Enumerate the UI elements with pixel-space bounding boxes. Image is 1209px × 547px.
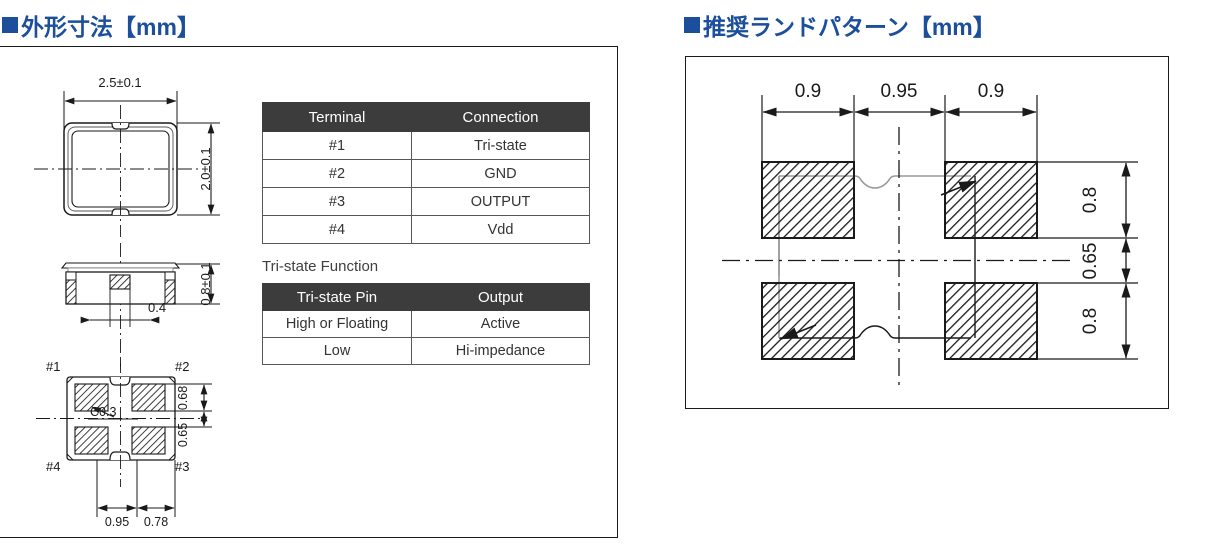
pin-label-1: #1: [46, 359, 60, 374]
cell-terminal: #2: [263, 160, 412, 188]
cell-terminal: #4: [263, 216, 412, 244]
cell-output: Hi-impedance: [412, 338, 590, 365]
cell-connection: GND: [412, 160, 590, 188]
dim-chamfer: C0.3: [90, 405, 116, 419]
dim-bottom-h2: 0.78: [144, 515, 168, 529]
table-row: #1 Tri-state: [263, 132, 590, 160]
pin-label-4: #4: [46, 459, 60, 474]
col-header-connection: Connection: [412, 103, 590, 132]
cell-connection: Tri-state: [412, 132, 590, 160]
cell-connection: Vdd: [412, 216, 590, 244]
dim-side-pad: 0.4: [148, 300, 166, 315]
table-header-row: Tri-state Pin Output: [263, 284, 590, 311]
dim-side-height: 0.8±0.1: [198, 262, 213, 305]
section-heading-landpattern: 推奨ランドパターン【mm】: [684, 8, 996, 42]
land-pad-bottom-left: [762, 283, 854, 359]
blue-square-bullet-icon: [2, 17, 18, 33]
pin-label-3: #3: [175, 459, 189, 474]
dim-top-height: 2.0±0.1: [198, 147, 213, 190]
cell-terminal: #3: [263, 188, 412, 216]
dim-bottom-v1: 0.68: [176, 386, 190, 410]
table-row: Low Hi-impedance: [263, 338, 590, 365]
dim-land-v2: 0.65: [1080, 243, 1101, 280]
section-heading-outline: 外形寸法【mm】: [2, 8, 200, 42]
dim-land-h2: 0.95: [881, 81, 918, 102]
table-row: #4 Vdd: [263, 216, 590, 244]
table-header-row: Terminal Connection: [263, 103, 590, 132]
section-heading-outline-label: 外形寸法【mm】: [21, 8, 200, 42]
cell-terminal: #1: [263, 132, 412, 160]
land-pad-top-right: [945, 162, 1037, 238]
dim-bottom-h1: 0.95: [105, 515, 129, 529]
dim-land-v1: 0.8: [1080, 187, 1101, 213]
cell-connection: OUTPUT: [412, 188, 590, 216]
side-view-group: 0.4 0.8±0.1: [62, 243, 220, 367]
land-pattern-panel: 0.9 0.95 0.9 0.8: [685, 56, 1169, 409]
tristate-function-table: Tri-state Pin Output High or Floating Ac…: [262, 283, 590, 365]
land-pad-bottom-right: [945, 283, 1037, 359]
dim-top-width: 2.5±0.1: [98, 75, 141, 90]
dim-bottom-v2: 0.65: [176, 423, 190, 447]
col-header-tristate-pin: Tri-state Pin: [263, 284, 412, 311]
cell-tristate-pin: High or Floating: [263, 311, 412, 338]
land-pattern-svg: 0.9 0.95 0.9 0.8: [686, 57, 1168, 408]
top-view-group: 2.5±0.1 2.0±0.1: [34, 75, 220, 237]
cell-tristate-pin: Low: [263, 338, 412, 365]
dim-land-v3: 0.8: [1080, 308, 1101, 334]
cell-output: Active: [412, 311, 590, 338]
col-header-output: Output: [412, 284, 590, 311]
col-header-terminal: Terminal: [263, 103, 412, 132]
pin-label-2: #2: [175, 359, 189, 374]
dim-land-h3: 0.9: [978, 81, 1004, 102]
tristate-function-caption: Tri-state Function: [262, 258, 378, 275]
table-row: #2 GND: [263, 160, 590, 188]
section-heading-landpattern-label: 推奨ランドパターン【mm】: [703, 8, 996, 42]
bottom-view-group: #1 #2 #4 #3 C0.3: [36, 359, 212, 529]
blue-square-bullet-icon: [684, 17, 700, 33]
dim-land-h1: 0.9: [795, 81, 821, 102]
table-row: #3 OUTPUT: [263, 188, 590, 216]
land-pad-top-left: [762, 162, 854, 238]
table-row: High or Floating Active: [263, 311, 590, 338]
terminal-connection-table: Terminal Connection #1 Tri-state #2 GND …: [262, 102, 590, 244]
